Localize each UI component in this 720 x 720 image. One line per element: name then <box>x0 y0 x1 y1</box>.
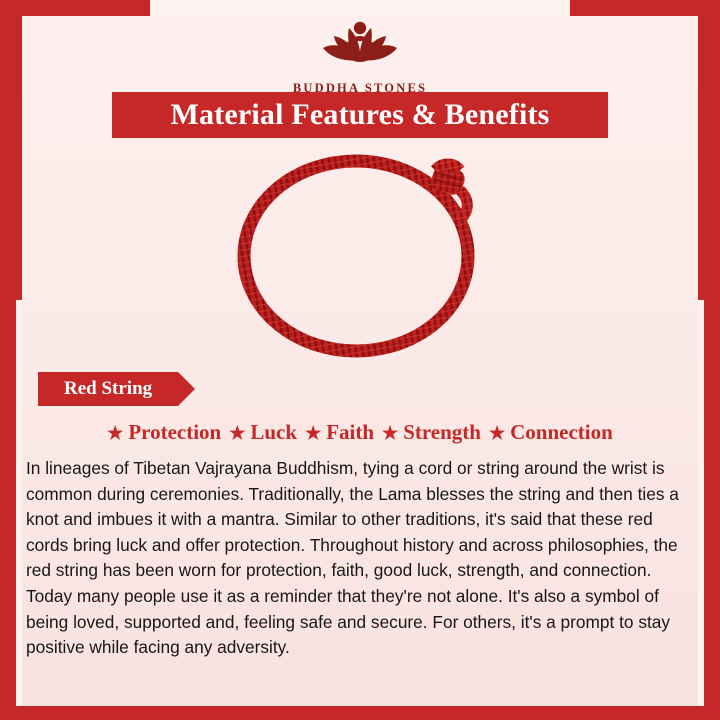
benefit-label: Protection <box>128 420 221 445</box>
benefit-item-faith: ★ Faith <box>297 420 374 445</box>
benefits-row: ★ Protection ★ Luck ★ Faith ★ Strength ★… <box>26 420 694 445</box>
star-icon: ★ <box>489 424 505 442</box>
brand-logo: BUDDHA STONES <box>0 16 720 96</box>
star-icon: ★ <box>382 424 398 442</box>
benefit-label: Strength <box>403 420 481 445</box>
benefit-item-connection: ★ Connection <box>481 420 613 445</box>
frame-band-right-bottom <box>704 300 720 720</box>
star-icon: ★ <box>305 424 321 442</box>
benefit-item-strength: ★ Strength <box>374 420 481 445</box>
frame-band-top-left <box>0 0 150 16</box>
benefit-label: Connection <box>510 420 613 445</box>
frame-band-top-right <box>570 0 720 16</box>
benefit-label: Luck <box>250 420 297 445</box>
frame-band-left-bottom <box>0 300 16 720</box>
description-text: In lineages of Tibetan Vajrayana Buddhis… <box>26 456 698 661</box>
red-braided-string-bracelet-icon <box>210 146 510 361</box>
benefit-item-protection: ★ Protection <box>107 420 221 445</box>
star-icon: ★ <box>229 424 245 442</box>
benefit-label: Faith <box>326 420 374 445</box>
product-tag: Red String <box>38 372 178 406</box>
frame-band-bottom <box>0 706 720 720</box>
page-title: Material Features & Benefits <box>112 92 608 138</box>
product-tag-label: Red String <box>64 378 152 400</box>
infographic-page: BUDDHA STONES Material Features & Benefi… <box>0 0 720 720</box>
lotus-meditation-icon <box>301 16 419 78</box>
star-icon: ★ <box>107 424 123 442</box>
benefit-item-luck: ★ Luck <box>221 420 297 445</box>
product-image <box>22 140 698 368</box>
page-title-text: Material Features & Benefits <box>170 98 549 132</box>
